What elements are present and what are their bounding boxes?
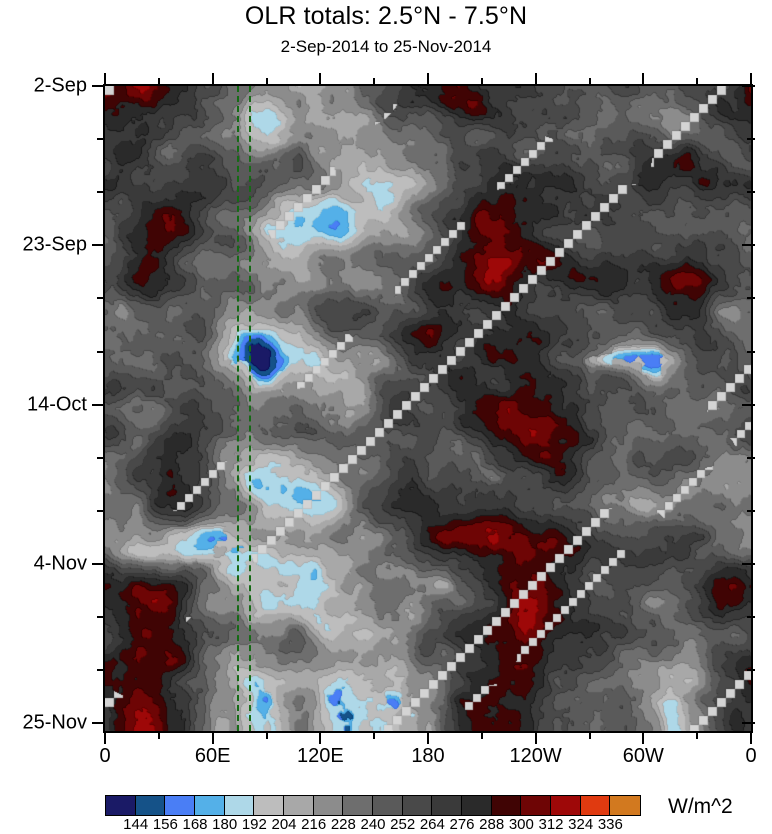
colorbar-tick-276: 276 bbox=[449, 816, 474, 833]
y-tick-label-3: 4-Nov bbox=[0, 553, 87, 576]
y-tick-minor-right bbox=[747, 191, 755, 193]
x-tick-label-1: 60E bbox=[195, 745, 231, 768]
page-title: OLR totals: 2.5°N - 7.5°N bbox=[0, 2, 772, 31]
y-tick-minor-right bbox=[747, 457, 755, 459]
y-tick-minor-right bbox=[747, 138, 755, 140]
x-tick-major bbox=[535, 731, 537, 744]
x-tick-minor-top bbox=[696, 78, 698, 86]
x-tick-minor-top bbox=[481, 78, 483, 86]
x-tick-major-top bbox=[427, 73, 429, 86]
y-tick-label-0: 2-Sep bbox=[0, 75, 87, 98]
colorbar-swatch-6 bbox=[284, 796, 314, 815]
y-tick-minor-right bbox=[747, 351, 755, 353]
annotation-vline-2 bbox=[249, 86, 251, 731]
x-tick-label-6: 0 bbox=[745, 745, 756, 768]
colorbar-swatch-13 bbox=[492, 796, 522, 815]
hovmoller-plot-area bbox=[103, 84, 753, 733]
y-tick-minor bbox=[97, 138, 105, 140]
y-tick-major bbox=[92, 404, 105, 406]
colorbar-tick-288: 288 bbox=[479, 816, 504, 833]
colorbar bbox=[105, 795, 641, 816]
x-tick-minor bbox=[373, 731, 375, 739]
colorbar-swatch-17 bbox=[610, 796, 640, 815]
colorbar-tick-168: 168 bbox=[182, 816, 207, 833]
y-tick-major-right bbox=[742, 85, 755, 87]
y-tick-major-right bbox=[742, 563, 755, 565]
x-tick-major-top bbox=[535, 73, 537, 86]
y-tick-major bbox=[92, 722, 105, 724]
y-tick-minor-right bbox=[747, 510, 755, 512]
x-tick-label-3: 180 bbox=[411, 745, 444, 768]
y-tick-major-right bbox=[742, 404, 755, 406]
y-tick-minor bbox=[97, 297, 105, 299]
colorbar-tick-180: 180 bbox=[212, 816, 237, 833]
x-tick-minor bbox=[589, 731, 591, 739]
y-tick-label-1: 23-Sep bbox=[0, 234, 87, 257]
colorbar-tick-252: 252 bbox=[390, 816, 415, 833]
x-tick-major bbox=[212, 731, 214, 744]
annotation-vline-1 bbox=[237, 86, 239, 731]
y-tick-minor bbox=[97, 191, 105, 193]
x-tick-major-top bbox=[642, 73, 644, 86]
x-tick-minor-top bbox=[373, 78, 375, 86]
y-tick-minor-right bbox=[747, 616, 755, 618]
colorbar-swatch-8 bbox=[343, 796, 373, 815]
colorbar-tick-156: 156 bbox=[153, 816, 178, 833]
colorbar-swatch-14 bbox=[521, 796, 551, 815]
colorbar-swatch-2 bbox=[165, 796, 195, 815]
colorbar-swatch-7 bbox=[314, 796, 344, 815]
page-subtitle: 2-Sep-2014 to 25-Nov-2014 bbox=[0, 37, 772, 57]
y-tick-major bbox=[92, 244, 105, 246]
colorbar-swatch-11 bbox=[432, 796, 462, 815]
x-tick-label-0: 0 bbox=[99, 745, 110, 768]
colorbar-units-label: W/m^2 bbox=[668, 795, 733, 819]
x-tick-major-top bbox=[212, 73, 214, 86]
colorbar-tick-300: 300 bbox=[509, 816, 534, 833]
olr-heatmap-field bbox=[105, 86, 751, 731]
x-tick-minor bbox=[158, 731, 160, 739]
y-tick-label-2: 14-Oct bbox=[0, 393, 87, 416]
y-tick-minor bbox=[97, 510, 105, 512]
x-tick-minor-top bbox=[266, 78, 268, 86]
y-tick-major bbox=[92, 563, 105, 565]
y-tick-major bbox=[92, 85, 105, 87]
y-tick-label-4: 25-Nov bbox=[0, 712, 87, 735]
x-tick-major bbox=[750, 731, 752, 744]
colorbar-swatch-12 bbox=[462, 796, 492, 815]
x-tick-label-4: 120W bbox=[510, 745, 562, 768]
colorbar-tick-204: 204 bbox=[271, 816, 296, 833]
colorbar-swatch-10 bbox=[403, 796, 433, 815]
y-tick-minor-right bbox=[747, 669, 755, 671]
y-tick-minor-right bbox=[747, 297, 755, 299]
colorbar-tick-312: 312 bbox=[538, 816, 563, 833]
y-tick-minor bbox=[97, 669, 105, 671]
colorbar-swatch-9 bbox=[373, 796, 403, 815]
x-tick-label-2: 120E bbox=[297, 745, 344, 768]
x-tick-minor bbox=[696, 731, 698, 739]
colorbar-tick-216: 216 bbox=[301, 816, 326, 833]
colorbar-swatch-5 bbox=[254, 796, 284, 815]
colorbar-swatch-0 bbox=[106, 796, 136, 815]
colorbar-swatch-3 bbox=[195, 796, 225, 815]
colorbar-tick-240: 240 bbox=[360, 816, 385, 833]
y-tick-minor bbox=[97, 351, 105, 353]
y-tick-minor bbox=[97, 616, 105, 618]
colorbar-tick-192: 192 bbox=[242, 816, 267, 833]
colorbar-swatch-15 bbox=[551, 796, 581, 815]
colorbar-tick-144: 144 bbox=[123, 816, 148, 833]
colorbar-tick-228: 228 bbox=[331, 816, 356, 833]
colorbar-tick-336: 336 bbox=[598, 816, 623, 833]
x-tick-major bbox=[427, 731, 429, 744]
x-tick-label-5: 60W bbox=[623, 745, 664, 768]
x-tick-major bbox=[104, 731, 106, 744]
x-tick-major bbox=[319, 731, 321, 744]
x-tick-major-top bbox=[319, 73, 321, 86]
colorbar-swatch-4 bbox=[225, 796, 255, 815]
y-tick-minor bbox=[97, 457, 105, 459]
colorbar-swatch-1 bbox=[136, 796, 166, 815]
y-tick-major-right bbox=[742, 722, 755, 724]
x-tick-minor-top bbox=[158, 78, 160, 86]
x-tick-minor bbox=[481, 731, 483, 739]
y-tick-major-right bbox=[742, 244, 755, 246]
colorbar-tick-264: 264 bbox=[420, 816, 445, 833]
colorbar-tick-324: 324 bbox=[568, 816, 593, 833]
x-tick-minor bbox=[266, 731, 268, 739]
x-tick-major bbox=[642, 731, 644, 744]
colorbar-swatch-16 bbox=[581, 796, 611, 815]
x-tick-minor-top bbox=[589, 78, 591, 86]
